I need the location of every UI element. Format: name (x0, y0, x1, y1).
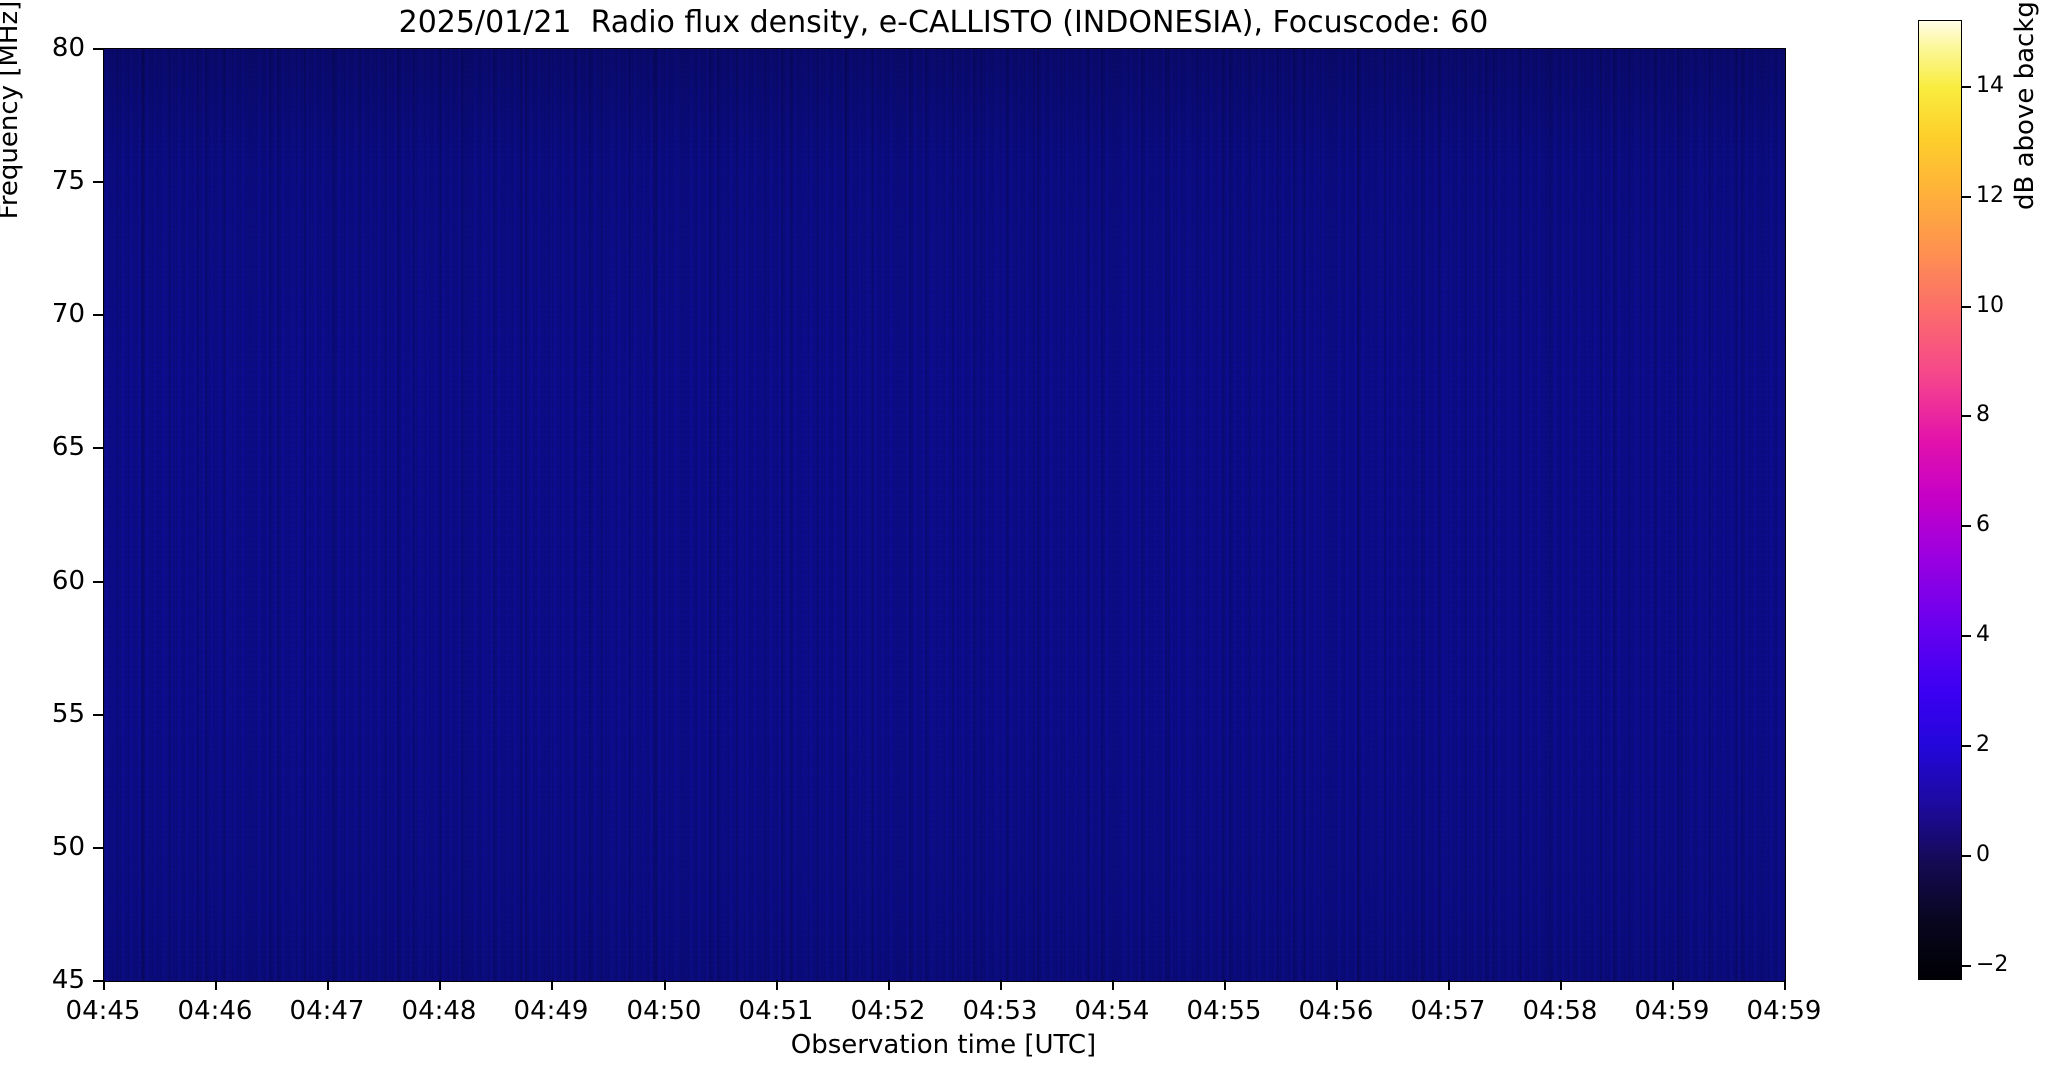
colorbar-tick-mark (1962, 965, 1971, 967)
colorbar-tick-mark (1962, 745, 1971, 747)
colorbar-tick-mark (1962, 306, 1971, 308)
colorbar-tick-label: −2 (1976, 954, 2008, 976)
x-axis-label: Observation time [UTC] (103, 1030, 1784, 1060)
y-axis-tick-mark (93, 447, 103, 449)
x-axis-tick-mark (1784, 980, 1786, 990)
y-axis-tick-mark (93, 581, 103, 583)
y-axis-tick-mark (93, 847, 103, 849)
y-axis-tick-label: 70 (15, 301, 85, 327)
x-axis-tick-mark (664, 980, 666, 990)
colorbar-tick-mark (1962, 525, 1971, 527)
x-axis-tick-mark (1112, 980, 1114, 990)
x-axis-tick-mark (215, 980, 217, 990)
colorbar-tick-label: 4 (1976, 624, 1990, 646)
x-axis-tick-mark (776, 980, 778, 990)
y-axis-tick-label: 55 (15, 701, 85, 727)
spectrogram-axes[interactable] (103, 48, 1786, 982)
y-axis-tick-mark (93, 181, 103, 183)
x-axis-tick-label: 04:59 (1714, 996, 1854, 1026)
y-axis-tick-mark (93, 48, 103, 50)
x-axis-tick-mark (1672, 980, 1674, 990)
y-axis-tick-label: 50 (15, 834, 85, 860)
x-axis-tick-mark (1448, 980, 1450, 990)
y-axis-tick-mark (93, 980, 103, 982)
x-axis-tick-mark (327, 980, 329, 990)
colorbar-tick-label: 0 (1976, 844, 1990, 866)
spectrogram-heatmap (104, 49, 1785, 981)
y-axis-tick-label: 65 (15, 434, 85, 460)
y-axis-tick-label: 45 (15, 967, 85, 993)
colorbar-tick-mark (1962, 855, 1971, 857)
colorbar-tick-mark (1962, 196, 1971, 198)
colorbar-tick-mark (1962, 86, 1971, 88)
x-axis-tick-mark (1560, 980, 1562, 990)
colorbar-label: dB above background (2010, 0, 2040, 210)
y-axis-tick-mark (93, 314, 103, 316)
page-title: 2025/01/21 Radio flux density, e-CALLIST… (103, 4, 1784, 42)
colorbar[interactable] (1918, 20, 1962, 980)
colorbar-gradient (1918, 20, 1962, 980)
x-axis-tick-mark (103, 980, 105, 990)
colorbar-tick-label: 12 (1976, 185, 2004, 207)
y-axis-tick-label: 75 (15, 168, 85, 194)
x-axis-tick-mark (888, 980, 890, 990)
x-axis-tick-mark (439, 980, 441, 990)
colorbar-tick-label: 2 (1976, 734, 1990, 756)
colorbar-tick-mark (1962, 415, 1971, 417)
colorbar-tick-mark (1962, 635, 1971, 637)
colorbar-tick-label: 6 (1976, 514, 1990, 536)
y-axis-tick-label: 60 (15, 568, 85, 594)
y-axis-tick-mark (93, 714, 103, 716)
colorbar-tick-label: 14 (1976, 75, 2004, 97)
figure-canvas: 2025/01/21 Radio flux density, e-CALLIST… (0, 0, 2047, 1067)
colorbar-tick-label: 10 (1976, 295, 2004, 317)
colorbar-tick-label: 8 (1976, 404, 1990, 426)
x-axis-tick-mark (1336, 980, 1338, 990)
x-axis-tick-mark (551, 980, 553, 990)
y-axis-tick-label: 80 (15, 35, 85, 61)
x-axis-tick-mark (1224, 980, 1226, 990)
x-axis-tick-mark (1000, 980, 1002, 990)
heatmap-shading-overlay (104, 49, 1785, 981)
